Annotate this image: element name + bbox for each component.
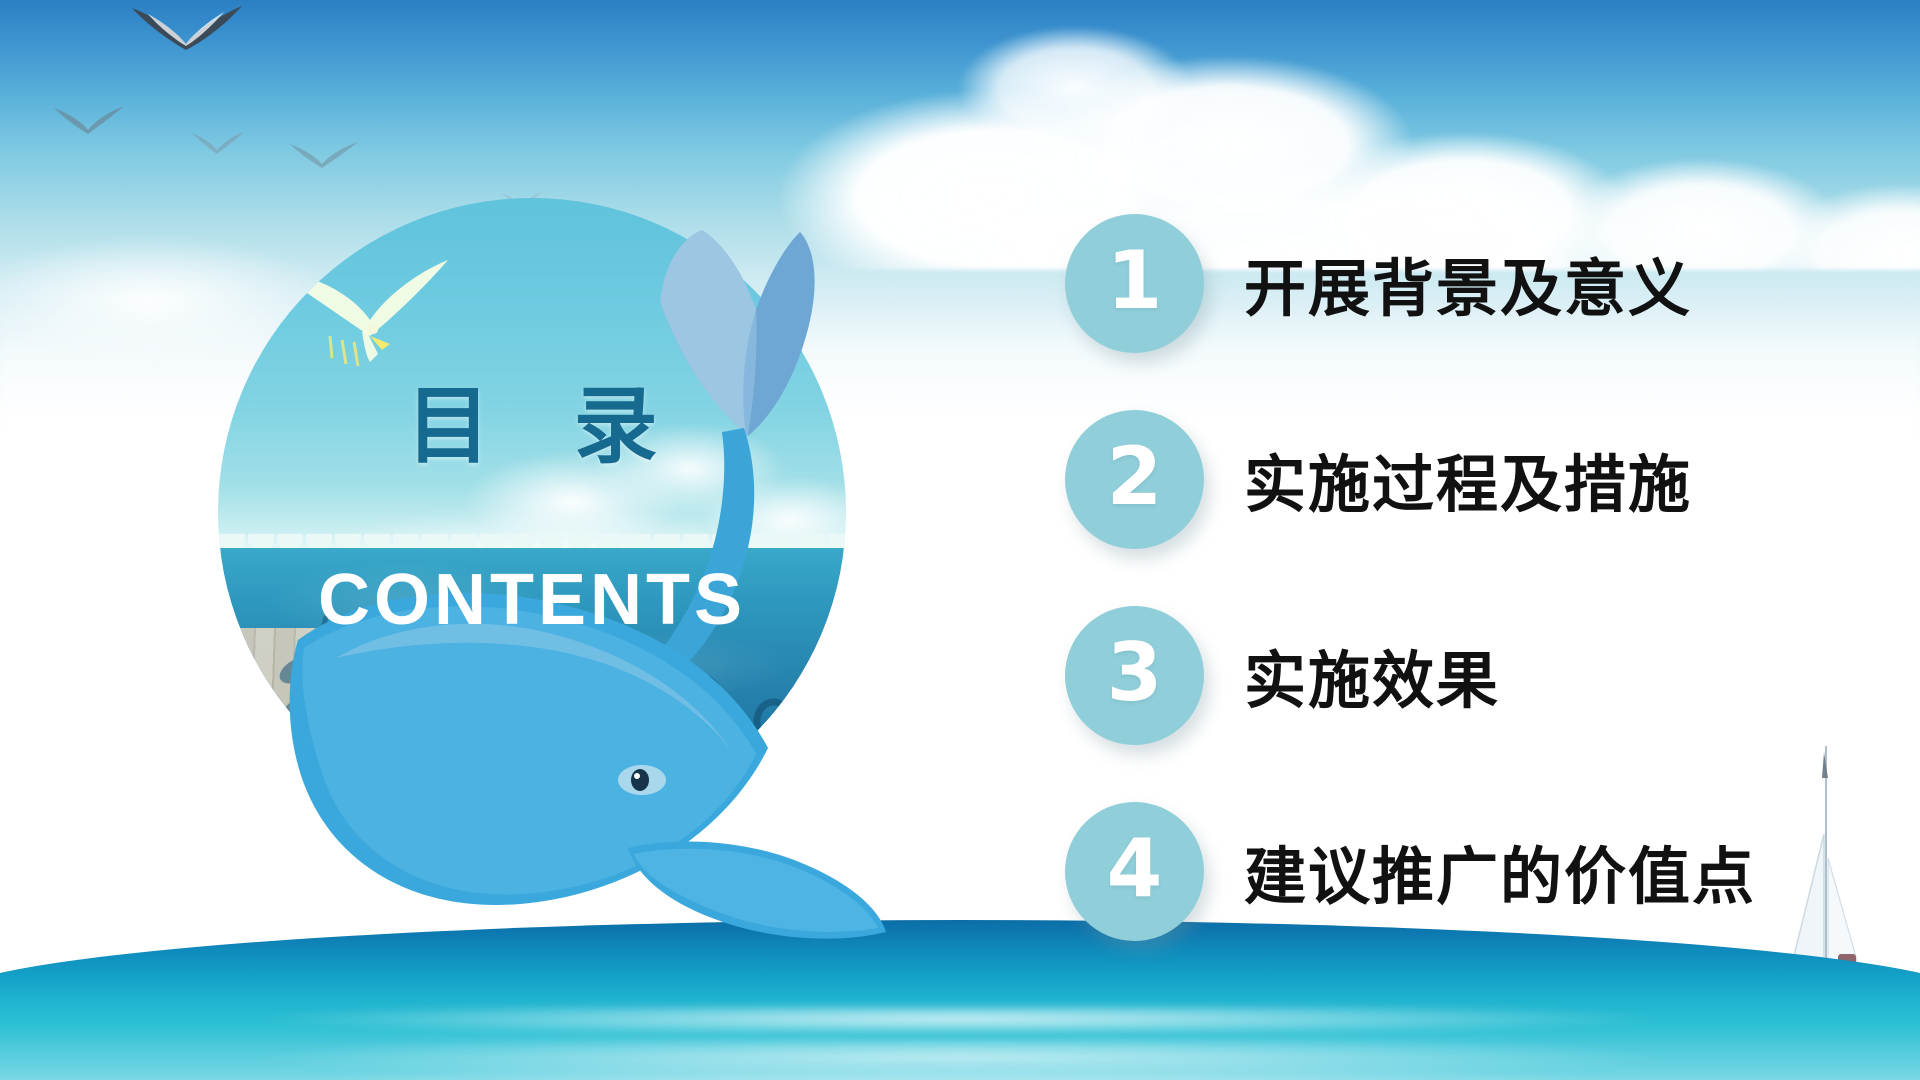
- ocean-foam: [0, 1006, 1920, 1032]
- agenda-number-badge-2[interactable]: 2: [1065, 410, 1204, 549]
- agenda-list: 1 开展背景及意义 2 实施过程及措施 3 实施效果 4 建议推广的价值点: [1065, 185, 1845, 969]
- contents-title-cn: 目 录: [218, 384, 846, 468]
- agenda-label-2: 实施过程及措施: [1244, 434, 1692, 524]
- agenda-item-4[interactable]: 4 建议推广的价值点: [1065, 773, 1845, 969]
- contents-slide: 目 录 CONTENTS 1 开展背景及意义 2 实施过程及措施 3 实施效果 …: [0, 0, 1920, 1080]
- seagull-icon: [128, 2, 248, 62]
- whale-icon: [208, 188, 868, 848]
- agenda-item-2[interactable]: 2 实施过程及措施: [1065, 381, 1845, 577]
- contents-badge: 目 录 CONTENTS: [218, 198, 846, 826]
- ocean-foam: [0, 1070, 1920, 1080]
- agenda-label-3: 实施效果: [1244, 630, 1500, 720]
- agenda-number-badge-3[interactable]: 3: [1065, 606, 1204, 745]
- agenda-number-badge-4[interactable]: 4: [1065, 802, 1204, 941]
- agenda-number-2: 2: [1107, 437, 1163, 517]
- agenda-number-badge-1[interactable]: 1: [1065, 214, 1204, 353]
- agenda-number-4: 4: [1107, 829, 1163, 909]
- whale-head: [290, 593, 886, 939]
- seagull-icon: [288, 140, 360, 174]
- seagull-icon: [52, 104, 126, 140]
- agenda-item-3[interactable]: 3 实施效果: [1065, 577, 1845, 773]
- seagull-icon: [190, 130, 246, 158]
- agenda-label-4: 建议推广的价值点: [1244, 826, 1756, 916]
- agenda-number-3: 3: [1107, 633, 1163, 713]
- agenda-label-1: 开展背景及意义: [1244, 238, 1692, 328]
- agenda-number-1: 1: [1107, 241, 1163, 321]
- agenda-item-1[interactable]: 1 开展背景及意义: [1065, 185, 1845, 381]
- ocean-foam: [0, 1040, 1920, 1074]
- contents-title-en: CONTENTS: [218, 564, 846, 636]
